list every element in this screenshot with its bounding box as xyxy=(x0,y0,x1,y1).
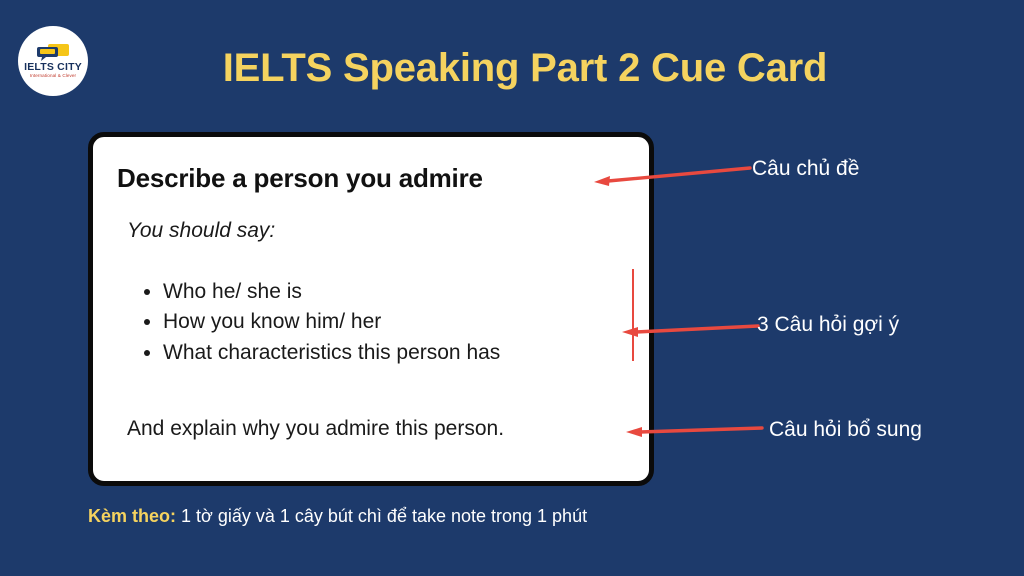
footer-note-text: 1 tờ giấy và 1 cây bút chì để take note … xyxy=(176,506,587,526)
cue-card-title: Describe a person you admire xyxy=(117,163,483,194)
footer-note: Kèm theo: 1 tờ giấy và 1 cây bút chì để … xyxy=(88,506,587,527)
logo-name: IELTS CITY xyxy=(24,62,82,73)
cue-card-bullet-list: Who he/ she is How you know him/ her Wha… xyxy=(131,277,500,368)
annotation-label-extra: Câu hỏi bổ sung xyxy=(769,418,922,442)
speech-bubble-icon xyxy=(36,43,70,61)
annotation-label-prompts: 3 Câu hỏi gợi ý xyxy=(757,313,899,337)
arrow-to-extra-question xyxy=(624,421,764,443)
arrow-to-prompts xyxy=(620,320,760,342)
cue-card-subtitle: You should say: xyxy=(127,219,275,243)
cue-card-closing-line: And explain why you admire this person. xyxy=(127,417,504,441)
list-item: How you know him/ her xyxy=(163,307,500,337)
annotation-label-topic: Câu chủ đề xyxy=(752,157,859,181)
logo-tagline: International & Clever xyxy=(30,74,76,79)
bullet-group-bracket xyxy=(632,269,634,361)
list-item: What characteristics this person has xyxy=(163,338,500,368)
page-title: IELTS Speaking Part 2 Cue Card xyxy=(155,46,895,91)
cue-card: Describe a person you admire You should … xyxy=(88,132,654,486)
slide-canvas: IELTS CITY International & Clever IELTS … xyxy=(0,0,1024,576)
brand-logo: IELTS CITY International & Clever xyxy=(18,26,88,96)
arrow-to-topic xyxy=(592,166,752,188)
list-item: Who he/ she is xyxy=(163,277,500,307)
footer-note-label: Kèm theo: xyxy=(88,506,176,526)
